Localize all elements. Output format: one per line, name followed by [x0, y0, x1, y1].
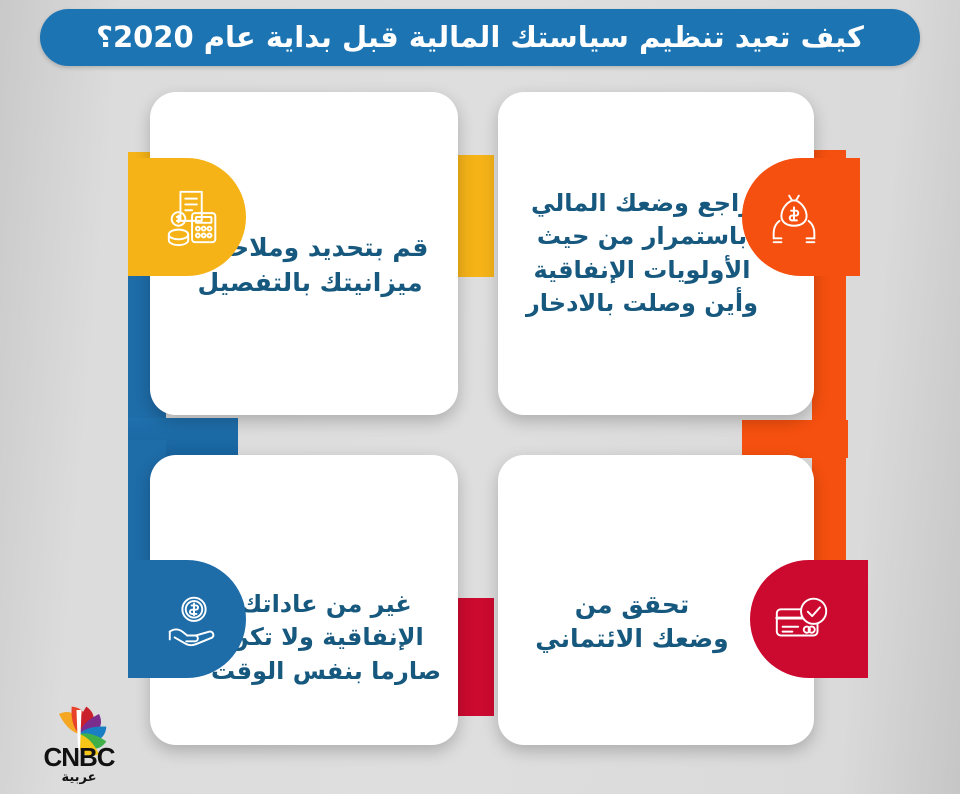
card-review-finances-text: راجع وضعك المالي باستمرار من حيث الأولوي…: [510, 187, 774, 319]
page-title: كيف تعيد تنظيم سياستك المالية قبل بداية …: [78, 21, 882, 54]
invoice-calculator-coins-icon: [163, 186, 225, 248]
logo-wordmark: CNBC: [43, 742, 115, 772]
money-bag-in-hands-icon: [763, 186, 825, 248]
logo-arabic: عربية: [61, 770, 96, 785]
badge-review-finances: [742, 158, 860, 276]
connector-red-horizontal: [458, 598, 494, 716]
credit-card-check-icon: [771, 588, 833, 650]
cnbc-arabia-logo: CNBC عربية: [20, 688, 138, 786]
card-credit-status-text: تحقق من وضعك الائتماني: [519, 588, 744, 657]
connector-yellow-horizontal: [458, 155, 494, 277]
peacock-logo-icon: CNBC عربية: [20, 688, 138, 786]
hand-holding-coin-icon: [163, 588, 225, 650]
badge-spending-habits: [128, 560, 246, 678]
badge-budget: [128, 158, 246, 276]
badge-credit-status: [750, 560, 868, 678]
infographic-poster: كيف تعيد تنظيم سياستك المالية قبل بداية …: [0, 0, 960, 794]
page-title-bar: كيف تعيد تنظيم سياستك المالية قبل بداية …: [40, 9, 920, 66]
